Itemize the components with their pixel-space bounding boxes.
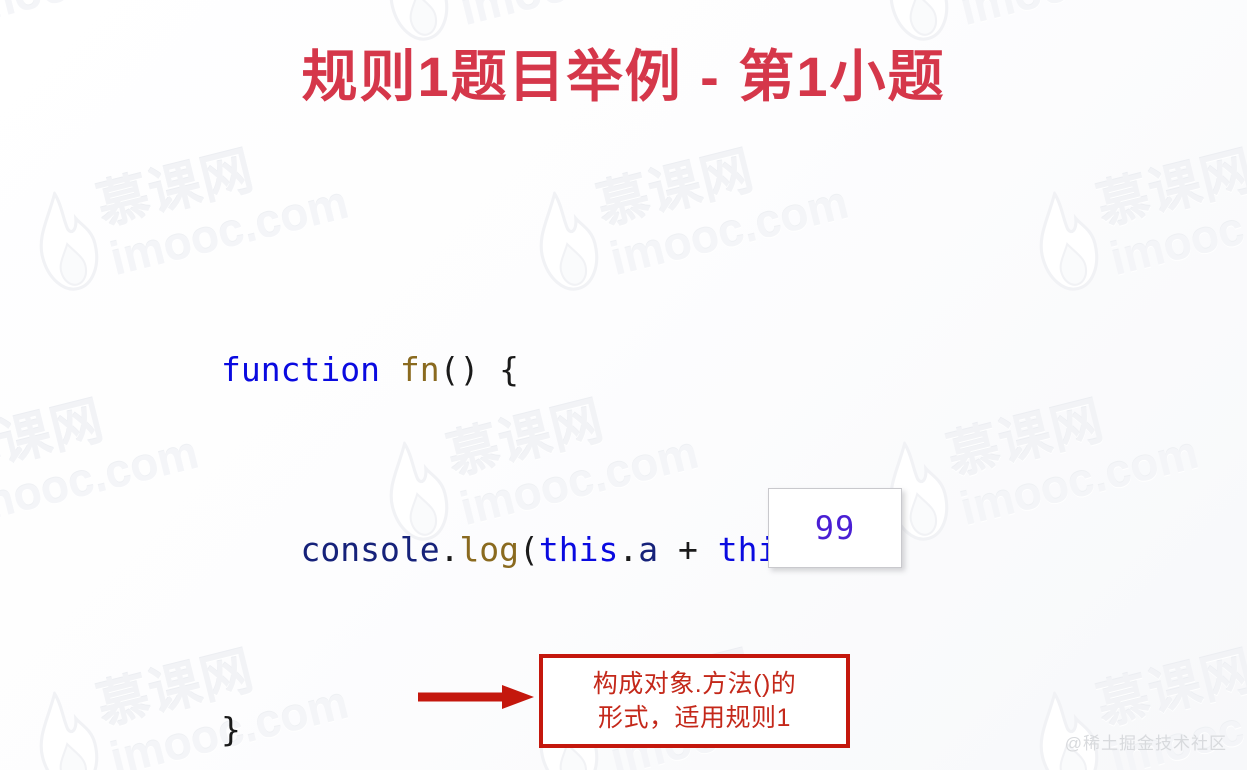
output-result-box: 99 (768, 488, 902, 568)
slide-content: 规则1题目举例 - 第1小题 function fn() { console.l… (0, 0, 1247, 770)
token-property-a: a (638, 530, 658, 569)
token-keyword-this-1: this (539, 530, 618, 569)
output-result-value: 99 (815, 509, 856, 547)
annotation-callout-box: 构成对象.方法()的 形式，适用规则1 (539, 654, 850, 748)
token-method-log: log (459, 530, 519, 569)
token-space (380, 350, 400, 389)
token-dot-2: . (618, 530, 638, 569)
token-operator-plus: + (658, 530, 718, 569)
token-punctuation: () { (440, 350, 519, 389)
token-function-name-fn: fn (400, 350, 440, 389)
token-keyword-function: function (221, 350, 380, 389)
annotation-line-1: 构成对象.方法()的 (593, 667, 797, 701)
page-title: 规则1题目举例 - 第1小题 (0, 48, 1247, 107)
code-line-1: function fn() { (221, 347, 877, 392)
annotation-arrow-icon (418, 682, 538, 712)
footer-watermark-text: @稀土掘金技术社区 (1065, 729, 1227, 754)
token-paren-open: ( (519, 530, 539, 569)
slide-canvas: 慕课网imooc.com慕课网imooc.com慕课网imooc.com慕课网i… (0, 0, 1247, 770)
token-identifier-console: console (300, 530, 439, 569)
token-dot: . (440, 530, 460, 569)
token-brace-close: } (221, 710, 241, 749)
token-indent (221, 530, 300, 569)
annotation-line-2: 形式，适用规则1 (598, 701, 791, 735)
